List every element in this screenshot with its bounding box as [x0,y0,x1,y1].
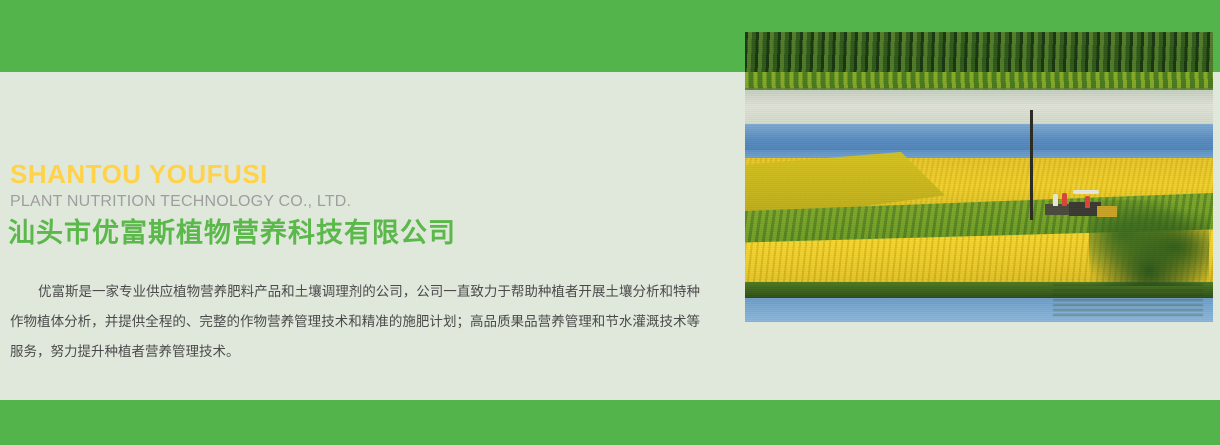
photo-utility-pole [1030,110,1033,220]
harvester-front [1097,206,1117,217]
hero-photo [745,32,1213,322]
harvester-rear [1045,204,1071,215]
photo-water-reflection [1053,284,1203,318]
bottom-green-band [0,400,1220,445]
page-root: SHANTOU YOUFUSI PLANT NUTRITION TECHNOLO… [0,0,1220,445]
company-name-en: SHANTOU YOUFUSI [10,160,720,190]
company-subtitle-en: PLANT NUTRITION TECHNOLOGY CO., LTD. [10,192,720,211]
harvester-canopy [1073,190,1099,194]
about-content: SHANTOU YOUFUSI PLANT NUTRITION TECHNOLO… [0,160,720,367]
company-name-cn: 汕头市优富斯植物营养科技有限公司 [8,217,720,251]
photo-worker-2 [1062,193,1067,206]
photo-worker-1 [1053,194,1058,206]
photo-harvester [1045,190,1117,220]
hero-photo-image [745,32,1213,322]
photo-worker-3 [1085,196,1090,208]
about-paragraph: 优富斯是一家专业供应植物营养肥料产品和土壤调理剂的公司，公司一直致力于帮助种植者… [10,277,700,367]
